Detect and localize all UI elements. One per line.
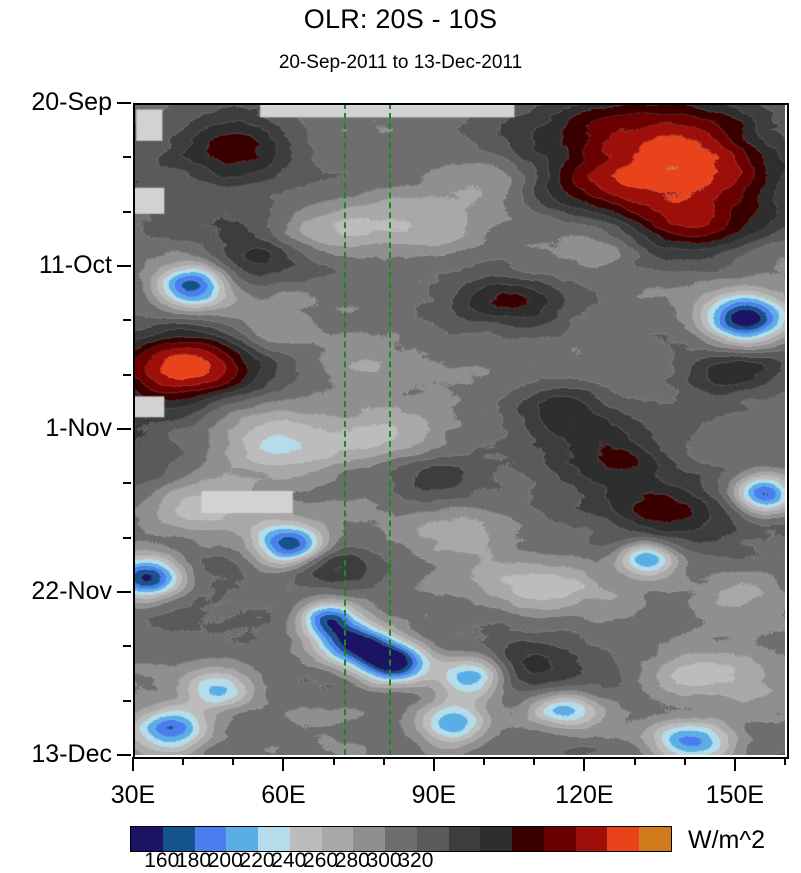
colorbar-swatch [449,827,481,851]
x-axis-tick-label: 30E [73,781,193,810]
y-axis-tick-label: 22-Nov [0,577,112,606]
y-major-tick [117,591,131,593]
chart-root: OLR: 20S - 10S 20-Sep-2011 to 13-Dec-201… [0,0,801,869]
x-major-tick [734,757,736,771]
x-minor-tick [684,757,686,765]
x-axis-tick-label: 150E [675,781,795,810]
x-minor-tick [333,757,335,765]
colorbar-swatch [385,827,417,851]
x-minor-tick [634,757,636,765]
colorbar-swatch [163,827,195,851]
colorbar-swatch [480,827,512,851]
chart-subtitle: 20-Sep-2011 to 13-Dec-2011 [0,52,801,74]
y-minor-tick [123,156,131,158]
x-major-tick [132,757,134,771]
x-minor-tick [383,757,385,765]
x-minor-tick [483,757,485,765]
x-major-tick [583,757,585,771]
x-major-tick [433,757,435,771]
colorbar-swatch [607,827,639,851]
x-axis-tick-label: 60E [223,781,343,810]
y-axis-tick-label: 11-Oct [0,251,112,280]
colorbar-swatch [290,827,322,851]
colorbar-swatch [322,827,354,851]
annotation-vline-72e [344,103,346,755]
hovmoller-plot-area [133,103,785,755]
colorbar-swatch [195,827,227,851]
y-axis-tick-label: 1-Nov [0,414,112,443]
x-major-tick [282,757,284,771]
y-axis-tick-label: 20-Sep [0,88,112,117]
y-axis-tick-label: 13-Dec [0,740,112,769]
y-minor-tick [123,700,131,702]
y-minor-tick [123,537,131,539]
colorbar-swatch [131,827,163,851]
y-minor-tick [123,211,131,213]
colorbar-swatch [639,827,671,851]
colorbar-swatch [353,827,385,851]
x-axis-tick-label: 120E [524,781,644,810]
y-minor-tick [123,482,131,484]
x-axis-tick-label: 90E [374,781,494,810]
colorbar-swatch [226,827,258,851]
y-major-tick [117,428,131,430]
y-major-tick [117,102,131,104]
colorbar-swatch [512,827,544,851]
x-minor-tick [232,757,234,765]
colorbar-swatch [258,827,290,851]
y-major-tick [117,754,131,756]
colorbar-units-label: W/m^2 [688,826,765,855]
colorbar-swatch [576,827,608,851]
y-minor-tick [123,319,131,321]
x-minor-tick [182,757,184,765]
x-minor-tick [784,757,786,765]
olr-field-canvas [133,103,785,755]
x-minor-tick [533,757,535,765]
colorbar-tick-label: 320 [386,849,446,873]
y-major-tick [117,265,131,267]
y-minor-tick [123,645,131,647]
colorbar-swatch [544,827,576,851]
annotation-vline-81e [389,103,391,755]
y-minor-tick [123,374,131,376]
colorbar-swatch [417,827,449,851]
page-title: OLR: 20S - 10S [0,4,801,35]
